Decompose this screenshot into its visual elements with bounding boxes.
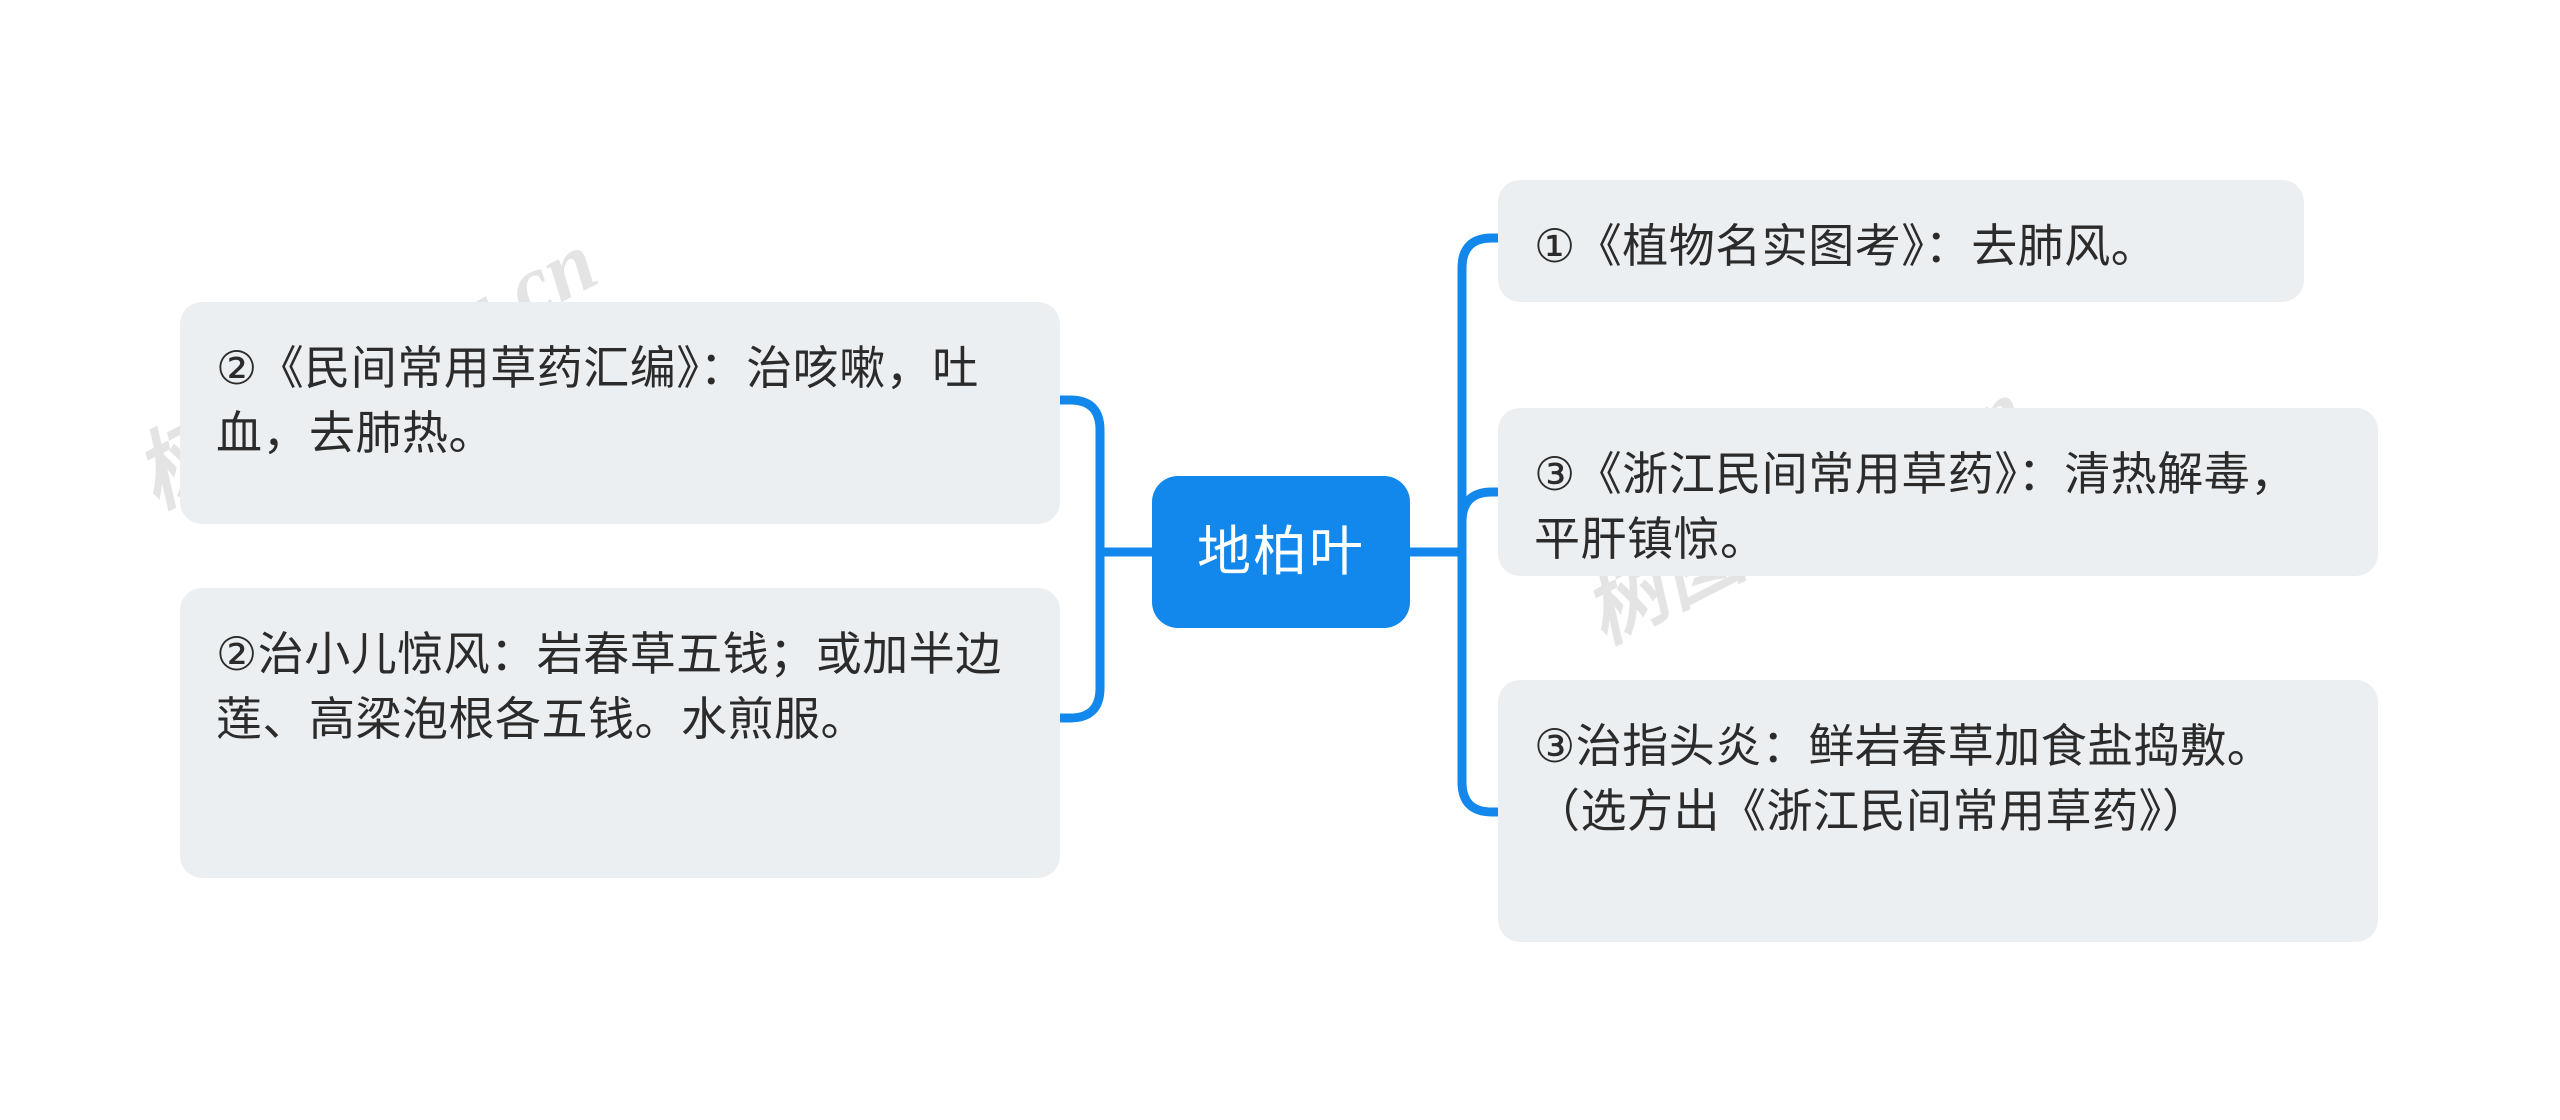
connector-right-1: [1462, 238, 1502, 552]
connector-left-1: [1060, 400, 1100, 552]
mindmap-node-left-2[interactable]: ②治小儿惊风：岩春草五钱；或加半边莲、高梁泡根各五钱。水煎服。: [180, 588, 1060, 878]
mindmap-root-node[interactable]: 地柏叶: [1152, 476, 1410, 628]
mindmap-node-right-1[interactable]: ①《植物名实图考》：去肺风。: [1498, 180, 2304, 302]
mindmap-node-left-1[interactable]: ②《民间常用草药汇编》：治咳嗽，吐血，去肺热。: [180, 302, 1060, 524]
mindmap-canvas: 树图 shutu.cn 树图 shutu.cn ②《民间常用草药汇编》：治咳嗽，…: [0, 0, 2560, 1120]
mindmap-node-right-2[interactable]: ③《浙江民间常用草药》：清热解毒，平肝镇惊。: [1498, 408, 2378, 576]
connector-right-2: [1462, 492, 1502, 552]
connector-right-3: [1462, 552, 1502, 812]
connector-left-2: [1060, 552, 1100, 718]
mindmap-node-right-3[interactable]: ③治指头炎：鲜岩春草加食盐捣敷。（选方出《浙江民间常用草药》）: [1498, 680, 2378, 942]
